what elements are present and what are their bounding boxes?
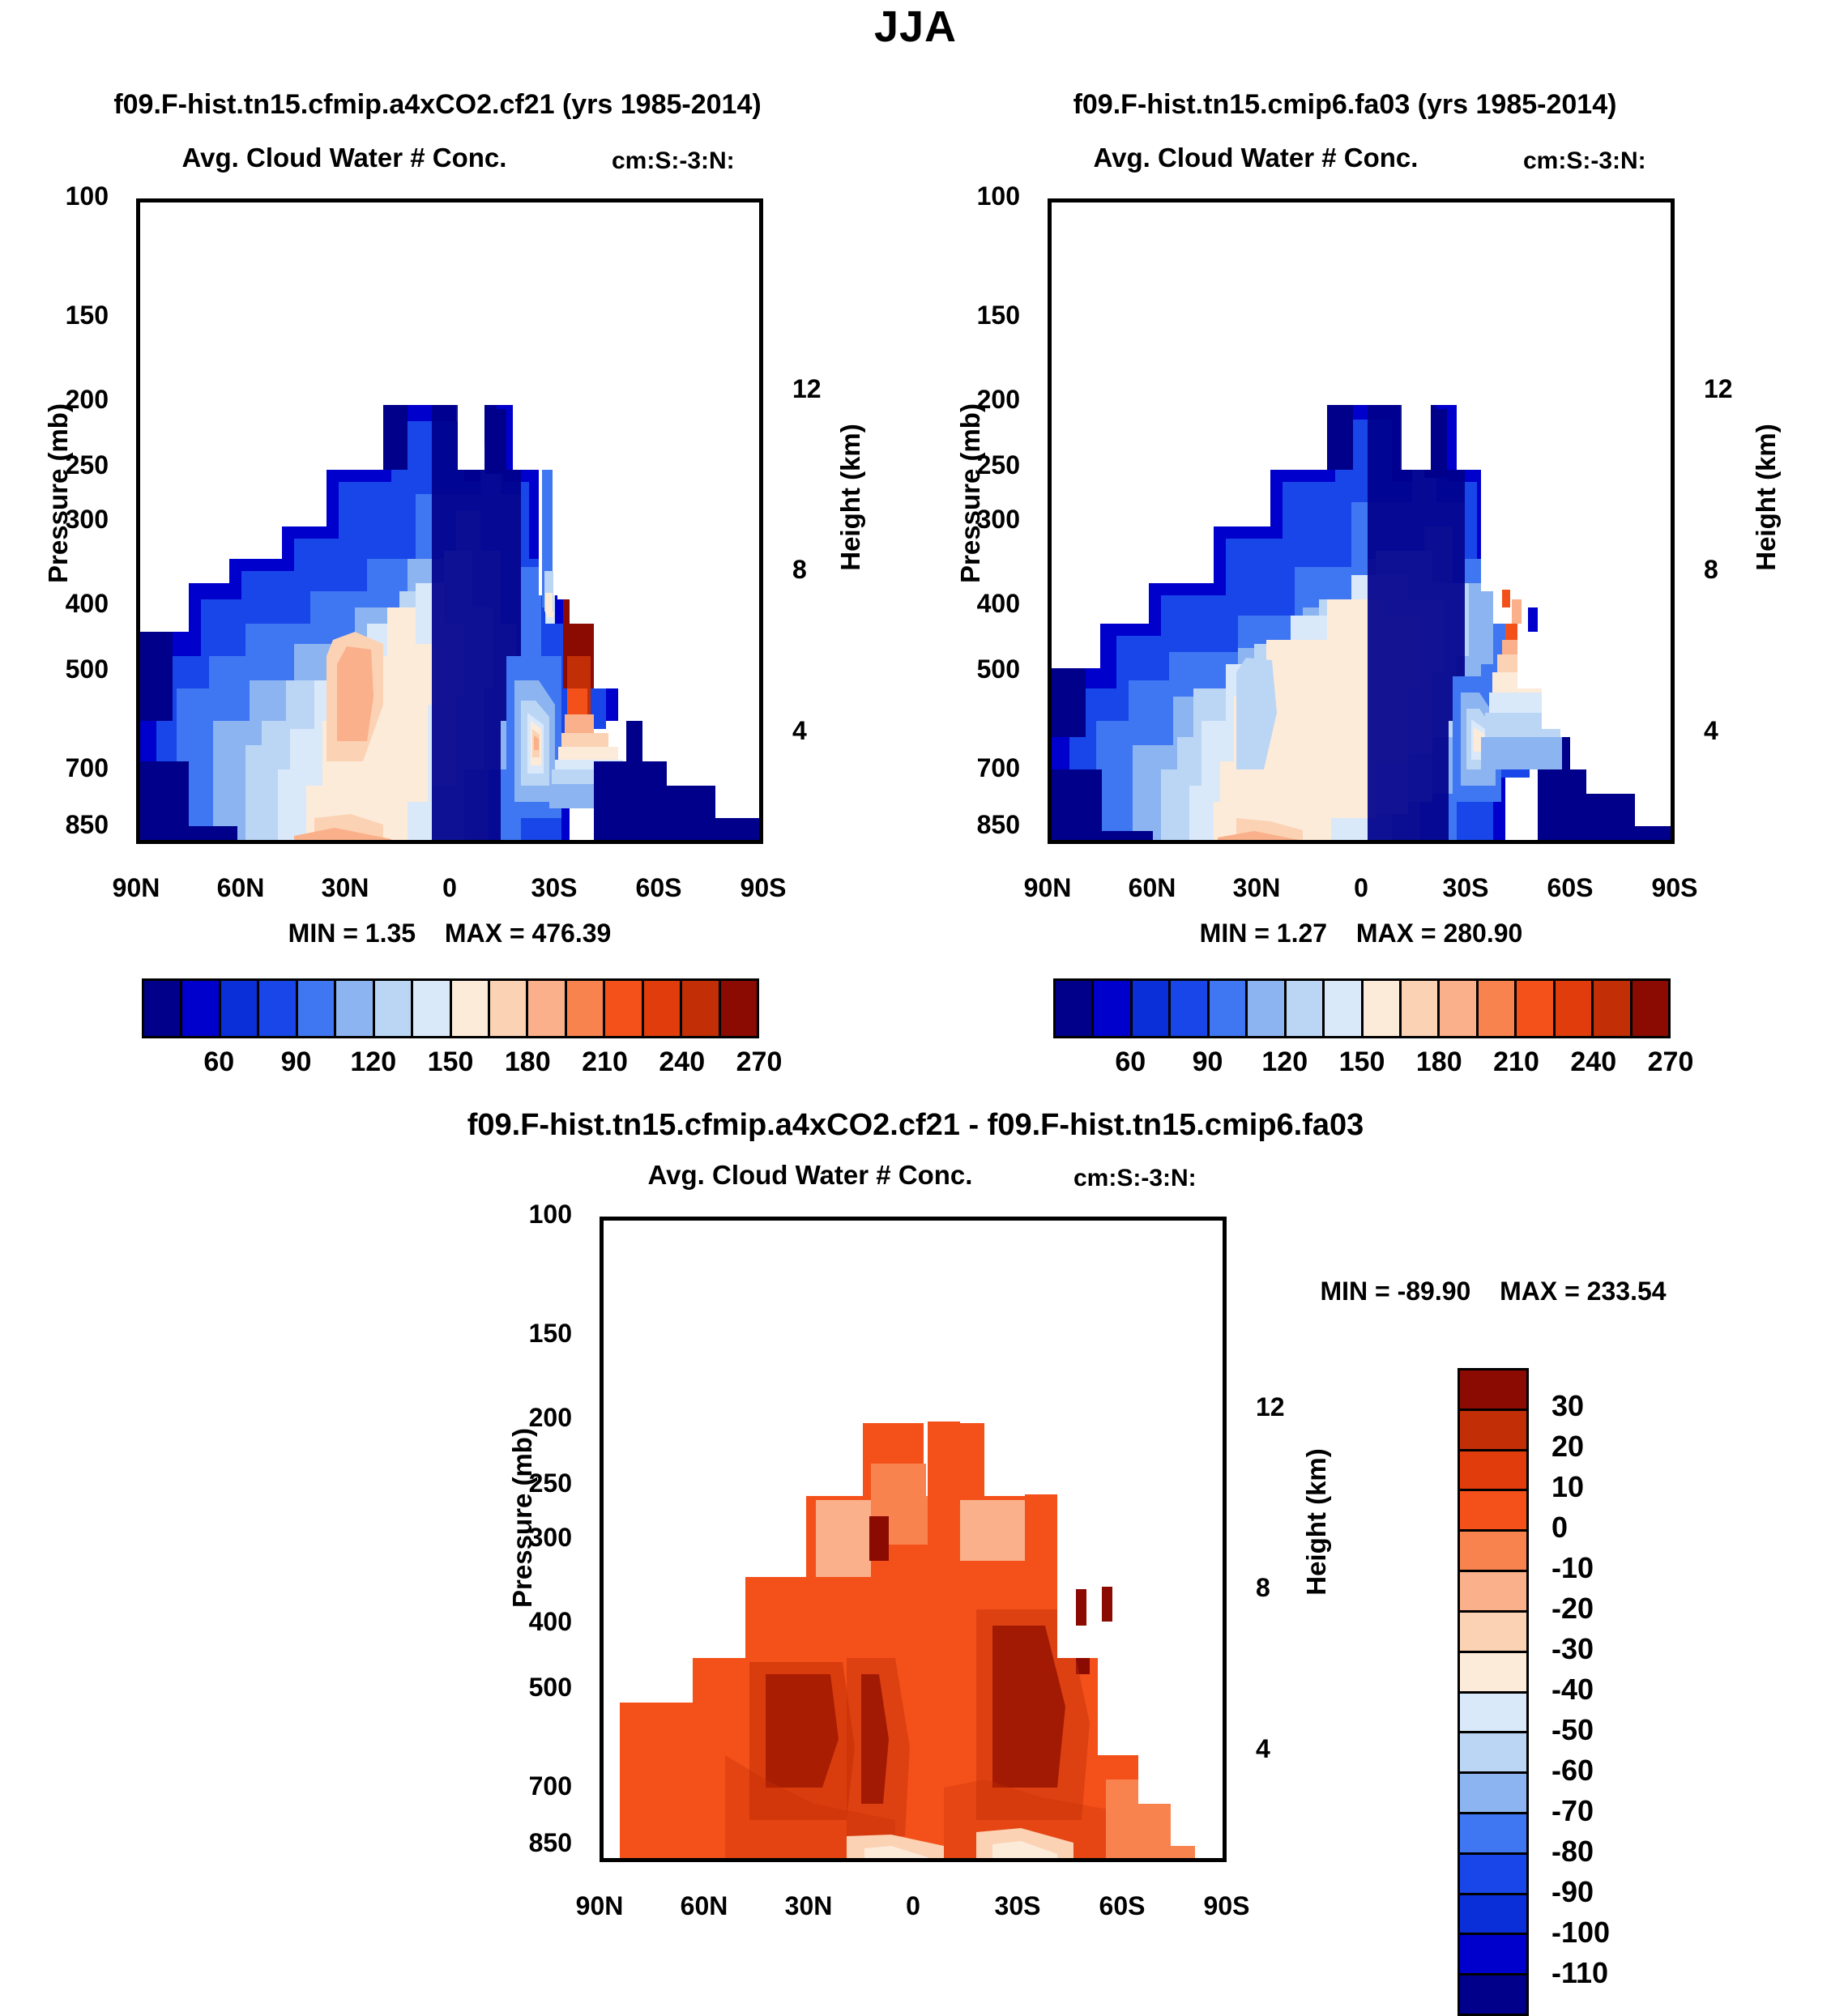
pressure-minor-tick	[136, 254, 140, 258]
top-minor-tick	[173, 198, 177, 202]
pressure-tick-label: 250	[66, 450, 109, 480]
colorbar-cell[interactable]	[1553, 978, 1594, 1038]
lat-minor-tick	[1642, 840, 1645, 844]
top-minor-tick	[1503, 198, 1506, 202]
pressure-tick-label: 300	[529, 1523, 572, 1553]
pressure-tick	[600, 1541, 604, 1545]
lat-tick	[1125, 1858, 1129, 1862]
panel-top-left-minmax: MIN = 1.35 MAX = 476.39	[288, 918, 612, 948]
pressure-minor-tick	[600, 1247, 604, 1251]
lat-minor-tick	[985, 1858, 988, 1862]
height-tick-label: 8	[792, 555, 807, 585]
colorbar-cell[interactable]	[373, 978, 413, 1038]
lat-minor-tick	[173, 840, 177, 844]
panel-top-right-contour-field	[1052, 202, 1671, 840]
pressure-tick	[1048, 404, 1052, 408]
pressure-minor-tick	[600, 1500, 604, 1503]
max-label-2: MAX = 280.90	[1356, 918, 1522, 948]
pressure-tick-label: 700	[529, 1771, 572, 1801]
colorbar-cell[interactable]	[1476, 978, 1517, 1038]
pressure-tick-label: 850	[977, 810, 1020, 840]
lat-tick-label: 90S	[1652, 873, 1698, 903]
panel-bottom-units-label: cm:S:-3:N:	[1073, 1165, 1197, 1192]
panel-top-left-ylabel: Pressure (mb)	[43, 388, 74, 599]
panel-bottom-minmax: MIN = -89.90 MAX = 233.54	[1320, 1277, 1666, 1306]
pressure-tick-label: 700	[977, 753, 1020, 783]
top-minor-tick	[452, 198, 455, 202]
colorbar-cell[interactable]	[257, 978, 297, 1038]
lat-tick-label: 30N	[785, 1891, 833, 1921]
max-label-3: MAX = 233.54	[1500, 1277, 1666, 1306]
pressure-minor-tick	[1048, 254, 1052, 258]
lat-tick-label: 30N	[322, 873, 369, 903]
colorbar-cell[interactable]	[334, 978, 374, 1038]
panel-top-left-title: f09.F-hist.tn15.cfmip.a4xCO2.cf21 (yrs 1…	[113, 89, 761, 121]
panel-top-left-contour-field	[140, 202, 759, 840]
pressure-minor-tick	[136, 793, 140, 796]
height-tick-label: 4	[1704, 716, 1718, 746]
lat-tick	[243, 840, 247, 844]
colorbar-cell[interactable]	[1207, 978, 1248, 1038]
pressure-minor-tick	[136, 593, 140, 596]
top-minor-tick	[1468, 198, 1471, 202]
colorbar-cell[interactable]	[1458, 1489, 1529, 1532]
panel-top-right-y2label: Height (km)	[1751, 388, 1782, 607]
top-minor-tick	[313, 198, 316, 202]
colorbar-cell[interactable]	[526, 978, 566, 1038]
colorbar-cell[interactable]	[603, 978, 643, 1038]
pressure-minor-tick	[136, 339, 140, 342]
top-minor-tick	[637, 1217, 640, 1221]
lat-minor-tick	[1538, 840, 1541, 844]
lat-tick-label: 60S	[636, 873, 682, 903]
pressure-minor-tick	[600, 1521, 604, 1524]
pressure-tick	[1048, 470, 1052, 474]
lat-minor-tick	[846, 1858, 849, 1862]
colorbar-tick-label: -100	[1551, 1916, 1610, 1950]
top-minor-tick	[731, 198, 734, 202]
pressure-tick	[600, 1790, 604, 1794]
pressure-minor-tick	[600, 1477, 604, 1480]
top-minor-tick	[915, 1217, 919, 1221]
panel-top-left-y2label: Height (km)	[835, 388, 866, 607]
pressure-tick	[1048, 320, 1052, 324]
panel-top-right-plot	[1048, 198, 1675, 844]
height-tick-label: 4	[792, 716, 807, 746]
pressure-tick-label: 400	[977, 589, 1020, 619]
pressure-minor-tick	[1048, 751, 1052, 754]
height-tick	[1671, 394, 1675, 398]
panel-top-right-units-label: cm:S:-3:N:	[1523, 147, 1646, 175]
colorbar-cell[interactable]	[450, 978, 490, 1038]
pressure-minor-tick	[600, 1811, 604, 1814]
pressure-minor-tick	[1048, 662, 1052, 665]
colorbar-cell[interactable]	[1168, 978, 1209, 1038]
pressure-minor-tick	[136, 433, 140, 436]
pressure-minor-tick	[600, 1830, 604, 1833]
pressure-tick	[136, 607, 140, 612]
height-tick	[759, 735, 763, 739]
pressure-minor-tick	[1048, 482, 1052, 485]
pressure-tick	[136, 470, 140, 474]
colorbar-cell[interactable]	[142, 978, 182, 1038]
pressure-minor-tick	[1048, 300, 1052, 303]
lat-minor-tick	[950, 1858, 954, 1862]
pressure-tick-label: 500	[529, 1673, 572, 1703]
pressure-minor-tick	[1048, 636, 1052, 639]
lat-tick	[1259, 840, 1263, 844]
lat-tick-label: 60S	[1099, 1891, 1146, 1921]
lat-tick	[557, 840, 561, 844]
lat-minor-tick	[1159, 1858, 1163, 1862]
colorbar-cell[interactable]	[1053, 978, 1094, 1038]
pressure-tick	[600, 1848, 604, 1852]
lat-minor-tick	[382, 840, 386, 844]
pressure-minor-tick	[1048, 503, 1052, 506]
colorbar-cell[interactable]	[1458, 1610, 1529, 1653]
pressure-tick-label: 200	[977, 385, 1020, 415]
top-minor-tick	[706, 1217, 710, 1221]
colorbar-cell[interactable]	[1361, 978, 1402, 1038]
lat-tick-label: 90S	[1204, 1891, 1250, 1921]
colorbar-cell[interactable]	[296, 978, 336, 1038]
colorbar-difference[interactable]	[1458, 1368, 1529, 2016]
colorbar-tick-label: 270	[1648, 1046, 1694, 1078]
contour-svg-2	[1052, 202, 1671, 840]
top-minor-tick	[1159, 1217, 1163, 1221]
top-minor-tick	[1364, 198, 1367, 202]
pressure-tick-label: 400	[529, 1607, 572, 1637]
pressure-tick	[136, 404, 140, 408]
colorbar-cell[interactable]	[1437, 978, 1478, 1038]
colorbar-tick-label: 180	[505, 1046, 551, 1078]
pressure-minor-tick	[600, 1375, 604, 1378]
pressure-minor-tick	[136, 356, 140, 360]
panel-top-left-units-label: cm:S:-3:N:	[612, 147, 735, 175]
lat-tick	[1155, 840, 1159, 844]
colorbar-tick-label: -20	[1551, 1592, 1594, 1626]
pressure-minor-tick	[600, 1451, 604, 1454]
top-minor-tick	[1224, 198, 1227, 202]
height-tick	[1223, 1592, 1227, 1596]
colorbar-tick-label: -30	[1551, 1632, 1594, 1666]
pressure-minor-tick	[1048, 433, 1052, 436]
pressure-minor-tick	[136, 701, 140, 705]
colorbar-tick-label: -40	[1551, 1673, 1594, 1707]
top-minor-tick	[672, 1217, 675, 1221]
pressure-minor-tick	[600, 1769, 604, 1772]
pressure-minor-tick	[1048, 339, 1052, 342]
colorbar-cell[interactable]	[1458, 1449, 1529, 1492]
colorbar-cell[interactable]	[680, 978, 720, 1038]
panel-top-right-title: f09.F-hist.tn15.cmip6.fa03 (yrs 1985-201…	[1073, 89, 1617, 121]
pressure-minor-tick	[136, 458, 140, 462]
lat-tick	[452, 840, 456, 844]
pressure-tick-label: 400	[66, 589, 109, 619]
height-tick-label: 12	[792, 374, 822, 404]
top-minor-tick	[1125, 1217, 1128, 1221]
top-minor-tick	[1607, 198, 1611, 202]
pressure-tick	[136, 320, 140, 324]
colorbar-tick-label: 180	[1416, 1046, 1462, 1078]
height-tick	[759, 394, 763, 398]
height-tick	[1671, 573, 1675, 578]
colorbar-cell[interactable]	[1458, 1812, 1529, 1855]
pressure-minor-tick	[136, 278, 140, 281]
min-label-3: MIN = -89.90	[1320, 1277, 1470, 1306]
pressure-minor-tick	[1048, 278, 1052, 281]
lat-minor-tick	[776, 1858, 779, 1862]
lat-tick-label: 60N	[681, 1891, 728, 1921]
pressure-minor-tick	[136, 751, 140, 754]
lat-minor-tick	[208, 840, 211, 844]
colorbar-cell[interactable]	[1458, 1771, 1529, 1814]
pressure-minor-tick	[600, 1611, 604, 1614]
colorbar-tick-label: 20	[1551, 1430, 1584, 1464]
colorbar-cell[interactable]	[488, 978, 528, 1038]
lat-tick	[1020, 1858, 1024, 1862]
lat-minor-tick	[1329, 840, 1332, 844]
top-minor-tick	[661, 198, 664, 202]
pressure-tick	[136, 201, 140, 205]
pressure-minor-tick	[600, 1680, 604, 1683]
pressure-minor-tick	[136, 503, 140, 506]
pressure-tick-label: 200	[529, 1403, 572, 1433]
colorbar-cell[interactable]	[1399, 978, 1440, 1038]
pressure-tick-label: 850	[529, 1828, 572, 1858]
pressure-minor-tick	[136, 636, 140, 639]
colorbar-cell[interactable]	[411, 978, 451, 1038]
pressure-tick-label: 250	[977, 450, 1020, 480]
top-minor-tick	[487, 198, 490, 202]
colorbar-cell[interactable]	[1514, 978, 1555, 1038]
top-minor-tick	[1294, 198, 1297, 202]
colorbar-cell[interactable]	[1458, 1852, 1529, 1895]
lat-tick-label: 60N	[217, 873, 265, 903]
colorbar-tick-label: 10	[1551, 1470, 1584, 1504]
contour-svg-3	[604, 1221, 1223, 1858]
lat-tick	[1364, 840, 1368, 844]
max-label-1: MAX = 476.39	[445, 918, 611, 948]
colorbar-cell[interactable]	[1130, 978, 1171, 1038]
pressure-tick	[600, 1626, 604, 1630]
pressure-minor-tick	[600, 1745, 604, 1749]
colorbar-cell[interactable]	[1245, 978, 1286, 1038]
top-minor-tick	[522, 198, 525, 202]
lat-minor-tick	[1503, 840, 1506, 844]
lat-minor-tick	[731, 840, 734, 844]
panel-top-right-minmax: MIN = 1.27 MAX = 280.90	[1200, 918, 1523, 948]
pressure-minor-tick	[600, 1296, 604, 1299]
pressure-minor-tick	[1048, 812, 1052, 815]
top-minor-tick	[1055, 1217, 1058, 1221]
colorbar-cell[interactable]	[1458, 1731, 1529, 1774]
colorbar-cell[interactable]	[219, 978, 259, 1038]
colorbar-tick-label: 30	[1551, 1389, 1584, 1423]
top-minor-tick	[696, 198, 699, 202]
lat-minor-tick	[591, 840, 595, 844]
top-minor-tick	[382, 198, 386, 202]
panel-top-left-plot	[136, 198, 763, 844]
pressure-tick-label: 700	[66, 753, 109, 783]
lat-minor-tick	[1607, 840, 1611, 844]
colorbar-top-right[interactable]	[1053, 978, 1671, 1038]
lat-minor-tick	[1433, 840, 1436, 844]
min-label-1: MIN = 1.35	[288, 918, 416, 948]
lat-tick	[1050, 840, 1054, 844]
lat-tick	[602, 1858, 606, 1862]
panel-top-left-variable-label: Avg. Cloud Water # Conc.	[182, 143, 507, 173]
figure-title: JJA	[874, 2, 957, 52]
height-tick-label: 12	[1256, 1392, 1285, 1422]
lat-tick-label: 60N	[1129, 873, 1176, 903]
lat-tick-label: 30S	[531, 873, 578, 903]
pressure-minor-tick	[600, 1720, 604, 1723]
height-tick	[1223, 1753, 1227, 1757]
colorbar-cell[interactable]	[1591, 978, 1632, 1038]
height-tick-label: 12	[1704, 374, 1733, 404]
colorbar-cell[interactable]	[1458, 1368, 1529, 1411]
colorbar-tick-label: 150	[1339, 1046, 1385, 1078]
top-minor-tick	[776, 1217, 779, 1221]
pressure-minor-tick	[136, 578, 140, 581]
pressure-minor-tick	[1048, 229, 1052, 232]
pressure-minor-tick	[136, 543, 140, 546]
pressure-tick	[600, 1691, 604, 1695]
lat-minor-tick	[1398, 840, 1402, 844]
pressure-minor-tick	[600, 1596, 604, 1599]
top-minor-tick	[811, 1217, 814, 1221]
colorbar-cell[interactable]	[1458, 1529, 1529, 1572]
pressure-tick	[1048, 523, 1052, 527]
pressure-minor-tick	[1048, 593, 1052, 596]
min-label-2: MIN = 1.27	[1200, 918, 1327, 948]
colorbar-cell[interactable]	[565, 978, 605, 1038]
height-tick	[759, 573, 763, 578]
colorbar-tick-label: -70	[1551, 1794, 1594, 1828]
lat-minor-tick	[522, 840, 525, 844]
top-minor-tick	[985, 1217, 988, 1221]
top-minor-tick	[1433, 198, 1436, 202]
lat-minor-tick	[1055, 1858, 1058, 1862]
colorbar-tick-label: -50	[1551, 1713, 1594, 1747]
pressure-minor-tick	[136, 560, 140, 564]
colorbar-cell[interactable]	[1458, 1893, 1529, 1936]
colorbar-tick-label: 90	[281, 1046, 312, 1078]
pressure-tick-label: 150	[529, 1319, 572, 1349]
pressure-tick	[1048, 829, 1052, 833]
lat-tick-label: 0	[906, 1891, 920, 1921]
pressure-minor-tick	[1048, 458, 1052, 462]
top-minor-tick	[591, 198, 595, 202]
colorbar-tick-label: 120	[350, 1046, 396, 1078]
lat-tick-label: 0	[1354, 873, 1368, 903]
lat-minor-tick	[278, 840, 281, 844]
colorbar-cell[interactable]	[1458, 1409, 1529, 1451]
colorbar-cell[interactable]	[1284, 978, 1325, 1038]
lat-minor-tick	[741, 1858, 745, 1862]
lat-minor-tick	[1224, 840, 1227, 844]
pressure-tick	[136, 523, 140, 527]
top-minor-tick	[208, 198, 211, 202]
top-minor-tick	[1120, 198, 1123, 202]
colorbar-cell[interactable]	[1091, 978, 1132, 1038]
colorbar-tick-label: -110	[1551, 1956, 1608, 1990]
pressure-minor-tick	[136, 662, 140, 665]
top-minor-tick	[278, 198, 281, 202]
lat-minor-tick	[1090, 1858, 1093, 1862]
lat-minor-tick	[417, 840, 420, 844]
top-minor-tick	[1538, 198, 1541, 202]
pressure-tick-label: 300	[66, 505, 109, 535]
lat-tick	[706, 1858, 711, 1862]
pressure-tick	[600, 1338, 604, 1342]
colorbar-cell[interactable]	[1458, 1691, 1529, 1734]
pressure-tick-label: 300	[977, 505, 1020, 535]
top-minor-tick	[1090, 1217, 1093, 1221]
lat-minor-tick	[1294, 840, 1297, 844]
lat-tick	[1468, 840, 1472, 844]
colorbar-tick-label: -80	[1551, 1835, 1594, 1869]
colorbar-cell[interactable]	[1458, 1651, 1529, 1694]
panel-top-right-ylabel: Pressure (mb)	[955, 388, 986, 599]
colorbar-cell[interactable]	[180, 978, 220, 1038]
colorbar-tick-label: 60	[1115, 1046, 1146, 1078]
pressure-minor-tick	[600, 1272, 604, 1276]
pressure-tick-label: 100	[977, 181, 1020, 211]
colorbar-tick-label: 270	[736, 1046, 783, 1078]
pressure-minor-tick	[1048, 793, 1052, 796]
colorbar-cell[interactable]	[1458, 1570, 1529, 1613]
lat-tick-label: 0	[442, 873, 457, 903]
colorbar-cell[interactable]	[719, 978, 759, 1038]
panel-bottom-y2label: Height (km)	[1301, 1413, 1332, 1631]
pressure-minor-tick	[600, 1408, 604, 1411]
lat-tick-label: 30N	[1233, 873, 1281, 903]
colorbar-tick-label: 240	[659, 1046, 705, 1078]
top-minor-tick	[1329, 198, 1332, 202]
colorbar-cell[interactable]	[1630, 978, 1671, 1038]
colorbar-cell[interactable]	[1458, 1933, 1529, 1976]
colorbar-tick-label: -90	[1551, 1875, 1594, 1909]
pressure-minor-tick	[136, 373, 140, 377]
lat-tick-label: 90S	[741, 873, 787, 903]
top-minor-tick	[1398, 198, 1402, 202]
top-minor-tick	[626, 198, 630, 202]
pressure-minor-tick	[1048, 543, 1052, 546]
pressure-minor-tick	[1048, 373, 1052, 377]
colorbar-cell[interactable]	[1322, 978, 1363, 1038]
lat-minor-tick	[1194, 1858, 1197, 1862]
pressure-tick-label: 200	[66, 385, 109, 415]
height-tick-label: 8	[1704, 555, 1718, 585]
height-tick-label: 4	[1256, 1734, 1270, 1764]
colorbar-tick-label: -10	[1551, 1551, 1594, 1585]
top-minor-tick	[417, 198, 420, 202]
top-minor-tick	[1573, 198, 1576, 202]
lat-tick	[661, 840, 665, 844]
top-minor-tick	[243, 198, 246, 202]
pressure-minor-tick	[600, 1318, 604, 1321]
pressure-minor-tick	[136, 229, 140, 232]
colorbar-cell[interactable]	[1458, 1973, 1529, 2016]
colorbar-tick-label: 210	[582, 1046, 628, 1078]
colorbar-tick-label: 90	[1193, 1046, 1223, 1078]
pressure-tick	[1048, 201, 1052, 205]
lat-minor-tick	[626, 840, 630, 844]
colorbar-cell[interactable]	[642, 978, 682, 1038]
colorbar-top-left[interactable]	[142, 978, 759, 1038]
